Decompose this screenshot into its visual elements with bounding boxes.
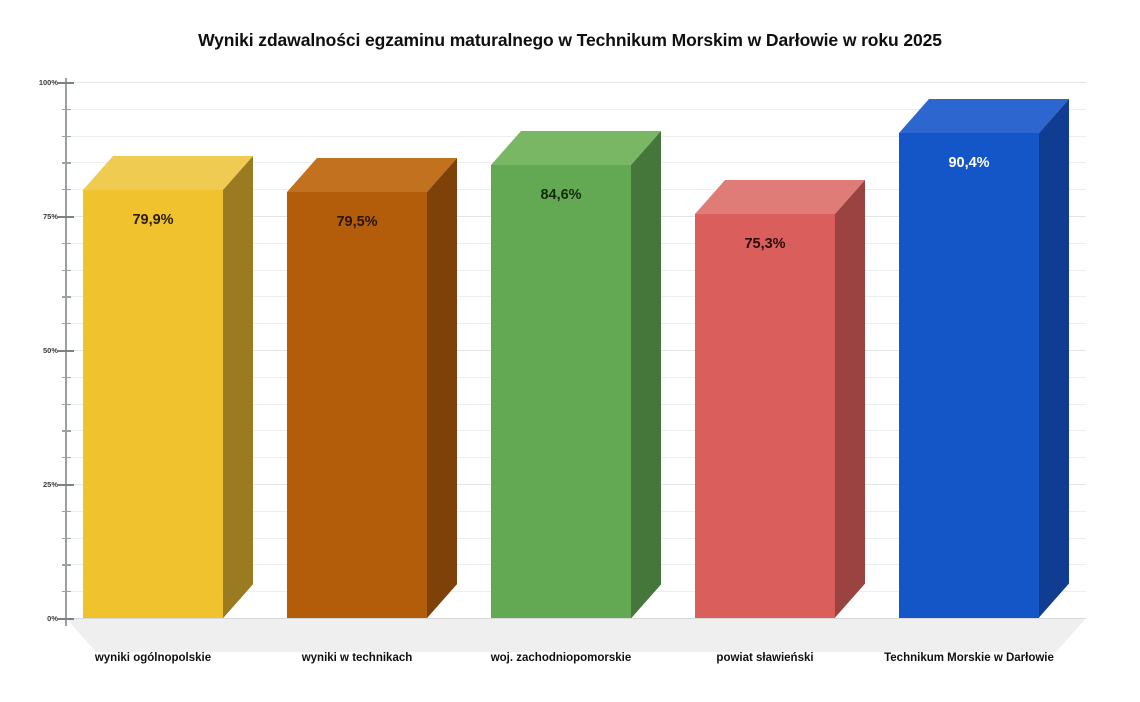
- y-axis-label: 0%: [0, 614, 58, 623]
- bar-side-face: [631, 131, 661, 618]
- y-axis-tick-major: [58, 618, 74, 620]
- bar-chart: Wyniki zdawalności egzaminu maturalnego …: [0, 0, 1140, 702]
- y-axis-label: 75%: [0, 212, 58, 221]
- y-axis-tick-major: [58, 350, 74, 352]
- y-axis-tick-minor: [62, 243, 71, 244]
- y-axis-tick-major: [58, 216, 74, 218]
- y-axis-label: 100%: [0, 78, 58, 87]
- y-axis-label: 50%: [0, 346, 58, 355]
- chart-floor-plane: [66, 618, 1086, 652]
- bar-side-face: [1039, 99, 1069, 618]
- y-axis-tick-minor: [62, 377, 71, 378]
- bar-1[interactable]: 79,9%: [83, 156, 253, 618]
- bar-2[interactable]: 79,5%: [287, 158, 457, 618]
- x-axis-label-3: woj. zachodniopomorskie: [451, 652, 671, 664]
- x-axis-label-2: wyniki w technikach: [247, 652, 467, 664]
- gridline: [66, 82, 1086, 83]
- bar-3[interactable]: 84,6%: [491, 131, 661, 618]
- bar-side-face: [835, 180, 865, 618]
- y-axis-tick-minor: [62, 591, 71, 592]
- bar-value-label: 79,5%: [287, 214, 427, 230]
- bar-front-face: [899, 133, 1039, 618]
- y-axis-tick-minor: [62, 564, 71, 565]
- y-axis-tick-minor: [62, 189, 71, 190]
- bar-value-label: 90,4%: [899, 155, 1039, 171]
- x-axis-label-5: Technikum Morskie w Darłowie: [859, 652, 1079, 664]
- y-axis-tick-minor: [62, 430, 71, 431]
- bar-front-face: [287, 192, 427, 618]
- y-axis-tick-minor: [62, 296, 71, 297]
- bar-5[interactable]: 90,4%: [899, 99, 1069, 618]
- y-axis-tick-minor: [62, 270, 71, 271]
- y-axis-tick-minor: [62, 136, 71, 137]
- bar-front-face: [83, 190, 223, 618]
- bar-value-label: 75,3%: [695, 236, 835, 252]
- floor-polygon: [66, 618, 1086, 652]
- y-axis-tick-minor: [62, 323, 71, 324]
- bar-front-face: [491, 165, 631, 618]
- x-axis-label-1: wyniki ogólnopolskie: [43, 652, 263, 664]
- bar-4[interactable]: 75,3%: [695, 180, 865, 618]
- bar-side-face: [427, 158, 457, 618]
- bar-value-label: 79,9%: [83, 212, 223, 228]
- bar-front-face: [695, 214, 835, 618]
- y-axis-tick-minor: [62, 511, 71, 512]
- y-axis-tick-minor: [62, 457, 71, 458]
- y-axis-tick-minor: [62, 109, 71, 110]
- bar-side-face: [223, 156, 253, 618]
- y-axis-tick-major: [58, 82, 74, 84]
- bar-value-label: 84,6%: [491, 187, 631, 203]
- y-axis-tick-minor: [62, 404, 71, 405]
- y-axis-tick-major: [58, 484, 74, 486]
- y-axis-line: [65, 78, 67, 626]
- y-axis-label: 25%: [0, 480, 58, 489]
- chart-title: Wyniki zdawalności egzaminu maturalnego …: [0, 30, 1140, 51]
- y-axis-tick-minor: [62, 162, 71, 163]
- y-axis-tick-minor: [62, 538, 71, 539]
- x-axis-label-4: powiat sławieński: [655, 652, 875, 664]
